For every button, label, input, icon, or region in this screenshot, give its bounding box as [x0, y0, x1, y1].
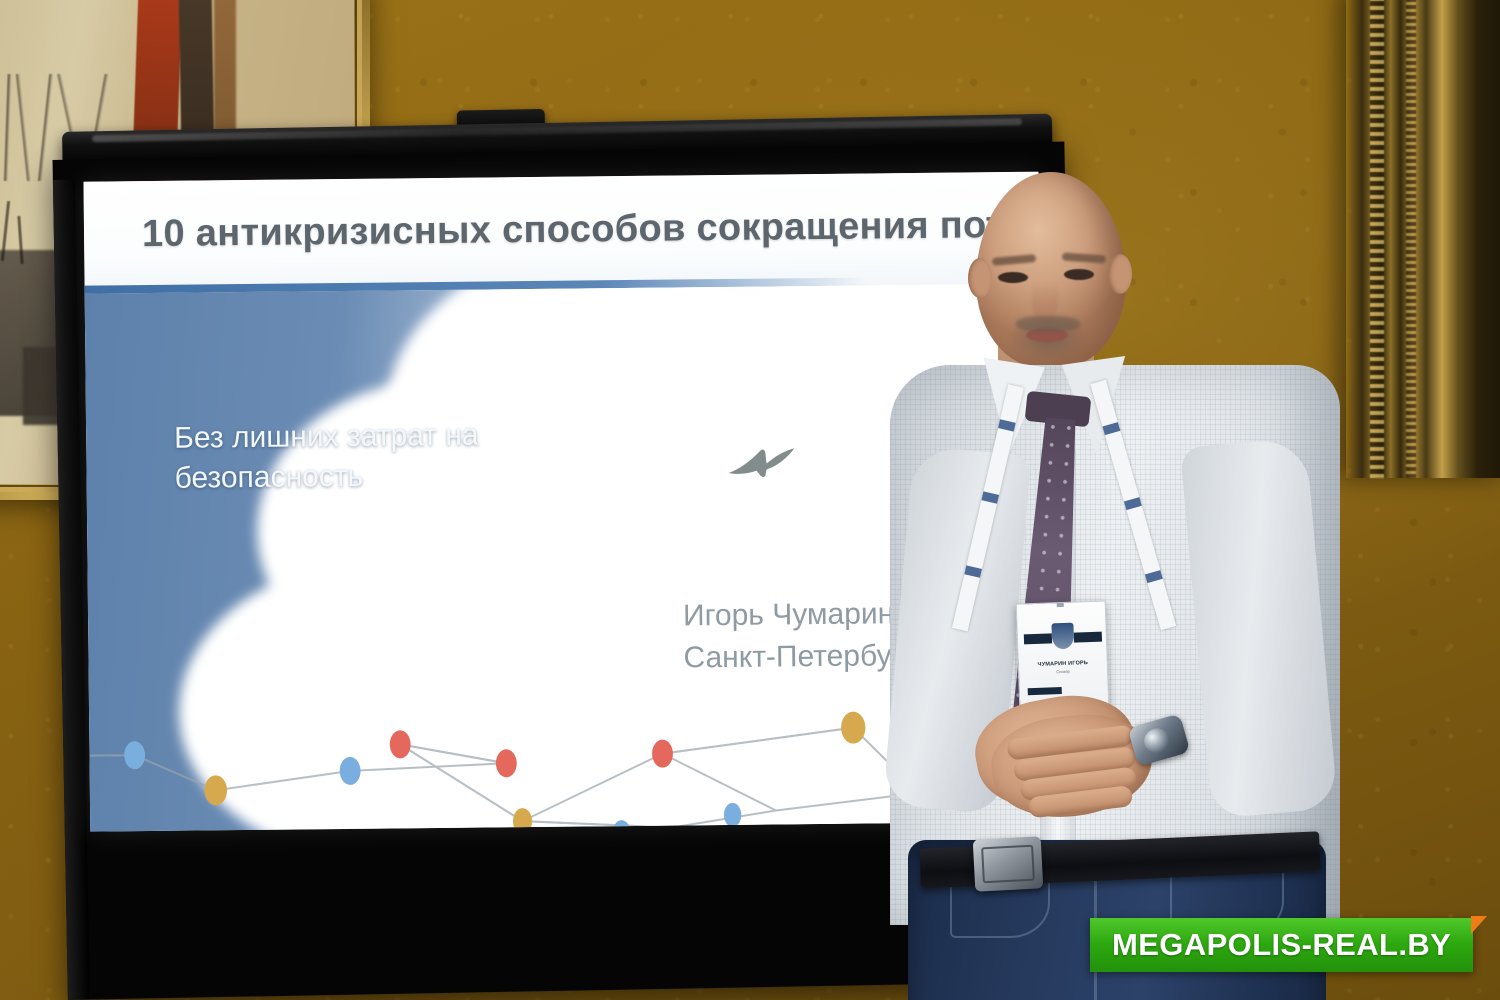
lanyard-print — [1145, 570, 1163, 583]
eye-left — [998, 272, 1028, 283]
buckle-inner — [981, 845, 1035, 884]
graph-node — [496, 749, 517, 777]
soaring-eagle-icon — [726, 446, 796, 485]
badge-bar — [1074, 632, 1102, 643]
lanyard-print — [964, 565, 982, 577]
badge-bar — [1024, 633, 1052, 644]
graph-node — [724, 803, 742, 827]
frame-bead-detail — [1406, 0, 1416, 478]
graph-node — [340, 757, 361, 785]
slide-subtitle-line1: Без лишних затрат на — [174, 416, 479, 459]
graph-node — [652, 740, 673, 768]
presenter-person: ЧУМАРИН ИГОРЬ Спикер — [880, 150, 1360, 1000]
lanyard-print — [981, 491, 999, 503]
watch-face — [1141, 725, 1173, 755]
site-watermark: MEGAPOLIS-REAL.BY — [1090, 918, 1473, 972]
moustache — [1016, 316, 1080, 332]
photo-scene: 10 антикризисных способов сокращения пот… — [0, 0, 1500, 1000]
graph-node — [124, 741, 145, 769]
eye-right — [1064, 269, 1094, 280]
badge-subtitle-text: Спикер — [1019, 667, 1107, 675]
graph-node — [513, 808, 532, 832]
badge-clip — [1056, 600, 1064, 607]
watermark-bar: MEGAPOLIS-REAL.BY — [1090, 918, 1473, 972]
lanyard-print — [1124, 497, 1142, 510]
graph-node — [841, 712, 866, 744]
slide-subtitle-line2: безопасность — [174, 456, 479, 499]
graph-node — [613, 820, 631, 832]
graph-node — [204, 775, 227, 805]
lanyard-print — [998, 419, 1016, 431]
lanyard-print — [1102, 422, 1120, 435]
badge-bar — [1028, 687, 1062, 695]
badge-org-logo — [1051, 623, 1074, 650]
belt-buckle — [973, 836, 1044, 891]
ear-left — [968, 258, 992, 298]
slide-subtitle: Без лишних затрат на безопасность — [174, 416, 479, 500]
frame-bead-detail — [1370, 0, 1384, 478]
watermark-text: MEGAPOLIS-REAL.BY — [1112, 927, 1451, 963]
ear-right — [1108, 254, 1132, 294]
watermark-corner-accent — [1471, 916, 1487, 934]
right-picture-frame — [1346, 0, 1500, 478]
graph-node — [390, 730, 411, 758]
